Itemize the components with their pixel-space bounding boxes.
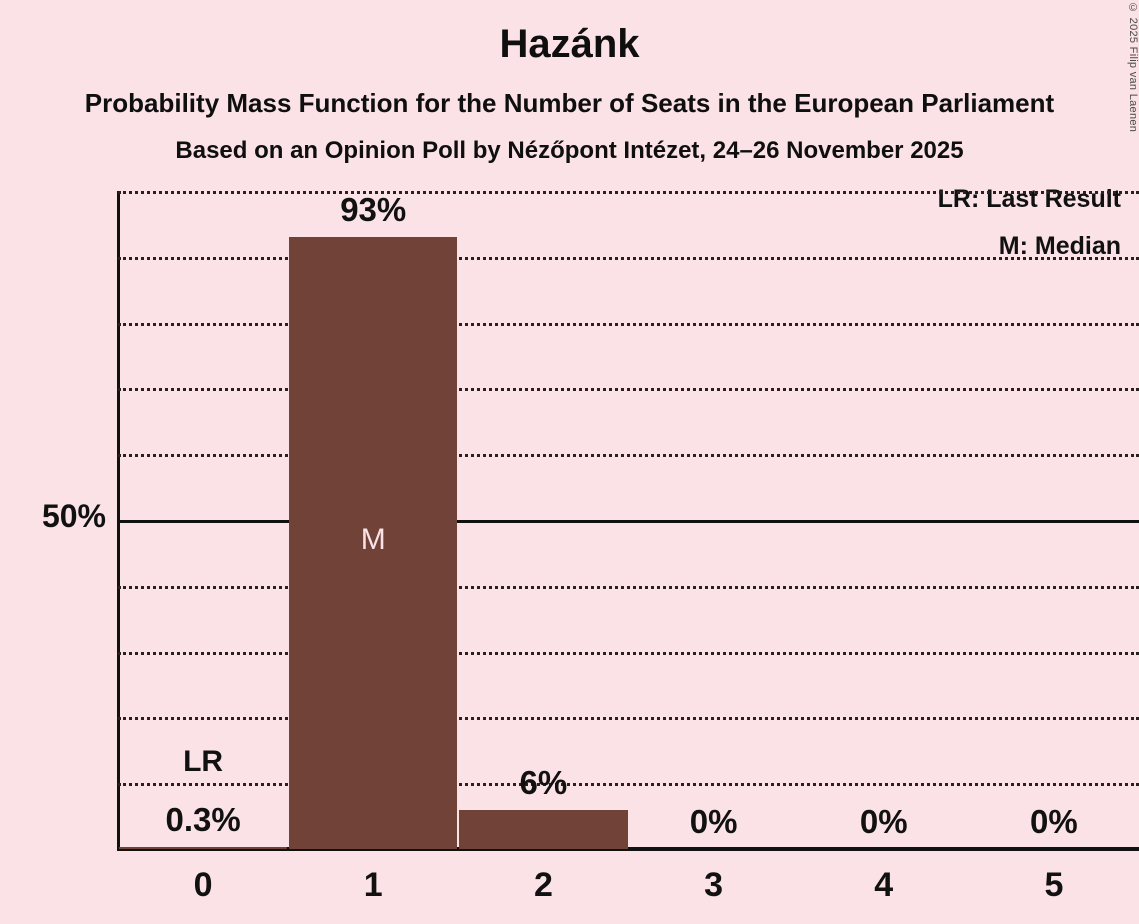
gridline-20 bbox=[118, 717, 1139, 720]
gridline-90 bbox=[118, 257, 1139, 260]
bar-seats-2 bbox=[459, 810, 627, 849]
gridline-30 bbox=[118, 652, 1139, 655]
x-tick-label-3: 3 bbox=[629, 866, 799, 905]
value-label-seats-1: 93% bbox=[288, 191, 458, 229]
gridline-70 bbox=[118, 388, 1139, 391]
page-title: Hazánk bbox=[0, 22, 1139, 67]
x-tick-label-2: 2 bbox=[458, 866, 628, 905]
bar-seats-1: M bbox=[289, 237, 457, 849]
x-tick-label-1: 1 bbox=[288, 866, 458, 905]
x-tick-label-0: 0 bbox=[118, 866, 288, 905]
value-label-seats-0: 0.3% bbox=[118, 801, 288, 839]
chart-subtitle-secondary: Based on an Opinion Poll by Nézőpont Int… bbox=[0, 137, 1139, 165]
pmf-chart: Hazánk Probability Mass Function for the… bbox=[0, 0, 1139, 924]
gridline-100 bbox=[118, 191, 1139, 194]
value-label-seats-2: 6% bbox=[458, 764, 628, 802]
value-label-seats-5: 0% bbox=[969, 803, 1139, 841]
value-label-seats-3: 0% bbox=[629, 803, 799, 841]
gridline-60 bbox=[118, 454, 1139, 457]
last-result-marker: LR bbox=[118, 745, 288, 779]
gridline-40 bbox=[118, 586, 1139, 589]
x-tick-label-5: 5 bbox=[969, 866, 1139, 905]
value-label-seats-4: 0% bbox=[799, 803, 969, 841]
gridline-major-50 bbox=[118, 520, 1139, 523]
bar-seats-0 bbox=[119, 847, 287, 849]
gridline-10 bbox=[118, 783, 1139, 786]
x-tick-label-4: 4 bbox=[799, 866, 969, 905]
gridline-80 bbox=[118, 323, 1139, 326]
copyright-notice: © 2025 Filip van Laenen bbox=[1123, 2, 1139, 142]
chart-subtitle-primary: Probability Mass Function for the Number… bbox=[0, 88, 1139, 119]
y-tick-label-50: 50% bbox=[22, 498, 106, 535]
median-marker: M bbox=[289, 523, 457, 557]
